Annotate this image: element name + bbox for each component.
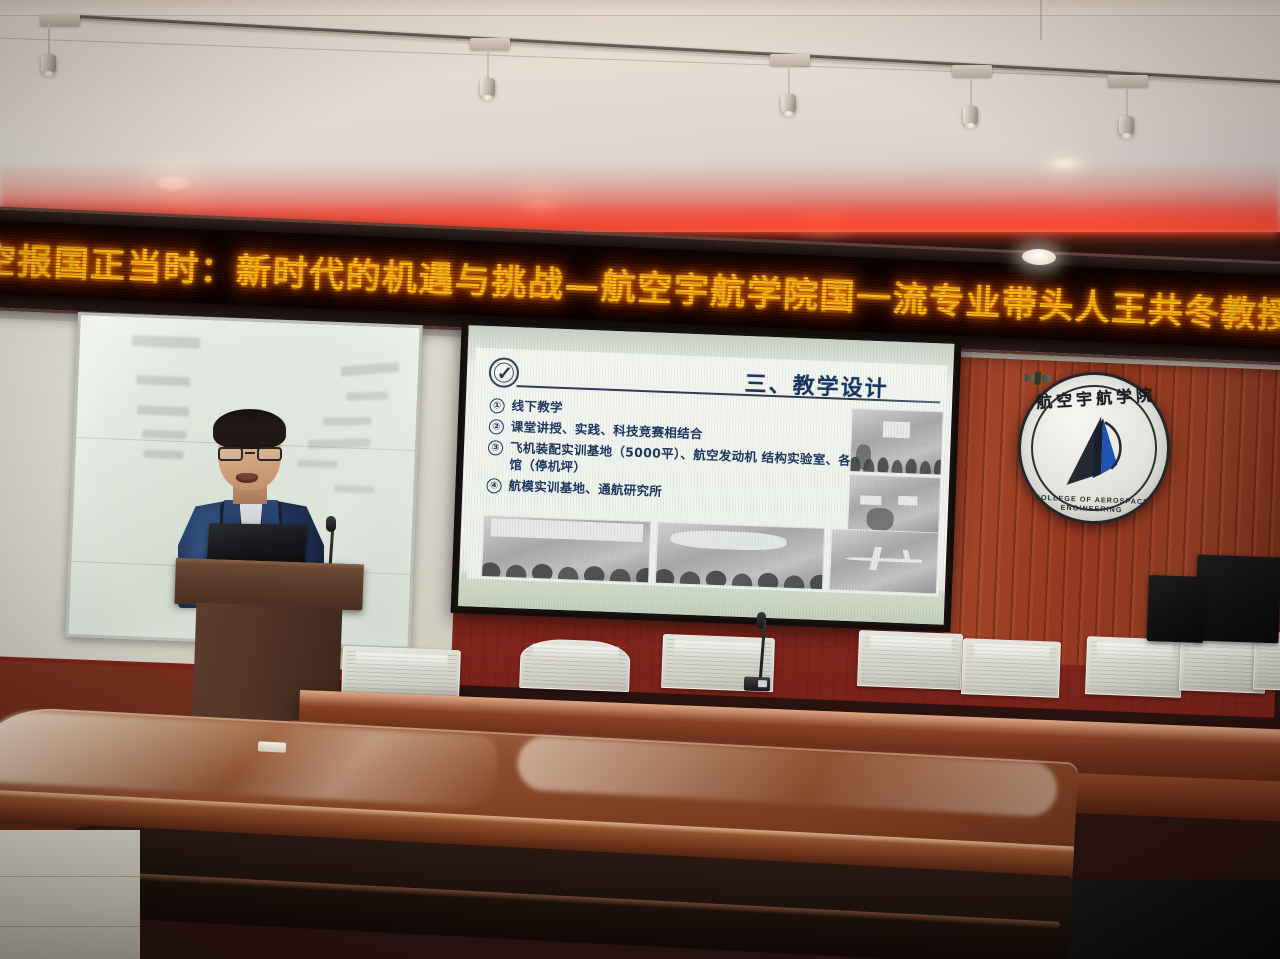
- photo-aircraft-model: [829, 528, 939, 594]
- aircraft-silhouette-icon: [845, 546, 922, 574]
- photo-students-engine: [655, 522, 825, 590]
- slide-title: 三、教学设计: [744, 366, 889, 404]
- photo-workshop-vehicle: [847, 474, 941, 535]
- chair[interactable]: [961, 638, 1061, 698]
- track-spotlight-icon: [1119, 116, 1134, 136]
- table-microphone-base[interactable]: [744, 677, 770, 692]
- track-spotlight-icon: [480, 78, 495, 98]
- satellite-icon: [1025, 371, 1052, 385]
- projection-screen-surface: 三、教学设计 ① 线下教学 ② 课堂讲授、实践、科技竞赛相结合 ③ 飞机装配实: [458, 325, 954, 624]
- track-mount: [770, 54, 810, 66]
- aerospace-arrow-icon: [1058, 411, 1131, 492]
- spotlight-stem: [970, 78, 972, 108]
- lecture-hall-photo: 航空报国正当时：新时代的机遇与挑战—航空宇航学院国一流专业带头人王共冬教授谈课程…: [0, 0, 1280, 959]
- ceiling-seam: [1040, 0, 1042, 40]
- track-mount: [470, 38, 510, 50]
- track-spotlight-icon: [41, 54, 56, 74]
- chair[interactable]: [519, 638, 631, 692]
- university-seal-icon: [488, 357, 519, 388]
- track-spotlight-icon: [963, 106, 978, 126]
- track-mount: [952, 65, 992, 77]
- bullet-text: 航模实训基地、通航研究所: [508, 477, 662, 500]
- bullet-text: 课堂讲授、实践、科技竞赛相结合: [511, 418, 704, 442]
- speaker-mouth: [236, 473, 258, 483]
- presentation-slide: 三、教学设计 ① 线下教学 ② 课堂讲授、实践、科技竞赛相结合 ③ 飞机装配实: [467, 348, 948, 597]
- track-mount: [40, 14, 80, 26]
- ceiling-top-strip: [0, 0, 1280, 16]
- photo-training-hangar: [481, 515, 651, 583]
- bullet-number: ②: [489, 419, 505, 435]
- spotlight-stem: [487, 50, 489, 80]
- spotlight-stem: [788, 66, 790, 96]
- table-paper-item[interactable]: [258, 741, 286, 752]
- glasses-icon: [217, 447, 283, 461]
- ceiling: [0, 0, 1280, 232]
- photo-classroom-projection: [849, 408, 943, 475]
- spotlight-stem: [48, 24, 50, 56]
- bullet-number: ①: [489, 398, 505, 414]
- podium-microphone-icon: [326, 516, 336, 532]
- track-mount: [1108, 75, 1148, 87]
- av-equipment-rack: [1195, 555, 1280, 644]
- projection-screen: 三、教学设计 ① 线下教学 ② 课堂讲授、实践、科技竞赛相结合 ③ 飞机装配实: [451, 318, 962, 632]
- bullet-text: 线下教学: [511, 397, 563, 416]
- chair[interactable]: [857, 630, 963, 690]
- emblem-aerospace-mark: [1058, 411, 1131, 492]
- laptop-screen-back: [207, 523, 308, 565]
- spotlight-stem: [1126, 88, 1128, 118]
- track-spotlight-icon: [781, 94, 796, 114]
- chair[interactable]: [1085, 636, 1183, 698]
- floor: [0, 830, 140, 959]
- bullet-number: ④: [486, 478, 502, 494]
- laptop[interactable]: [207, 523, 308, 565]
- college-emblem: 航空宇航学院 COLLEGE OF AEROSPACE ENGINEERING: [1015, 369, 1173, 527]
- bullet-number: ③: [488, 440, 504, 456]
- av-equipment-unit: [1147, 575, 1205, 643]
